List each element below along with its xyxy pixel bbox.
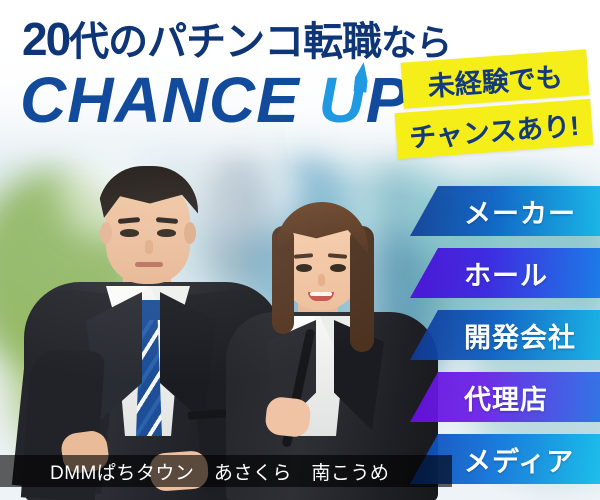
badge-label: メーカー — [464, 192, 576, 231]
caption-band: DMMぱちタウン あさくら 南こうめ — [0, 455, 452, 487]
badge-label: ホール — [464, 254, 548, 293]
advertisement-banner[interactable]: 20代のパチンコ転職なら CHANCE UP 未経験でも チャンスあり! メーカ… — [0, 0, 600, 500]
badge-development-company[interactable]: 開発会社 — [410, 310, 600, 360]
badge-hall[interactable]: ホール — [410, 248, 600, 298]
caption-text: DMMぱちタウン あさくら 南こうめ — [0, 458, 389, 485]
badge-label: 開発会社 — [464, 316, 576, 355]
badge-agency[interactable]: 代理店 — [410, 372, 600, 422]
badge-maker[interactable]: メーカー — [410, 186, 600, 236]
badge-label: 代理店 — [464, 378, 548, 417]
category-badge-list: メーカー ホール 開発会社 代理店 メディア — [0, 0, 600, 500]
badge-label: メディア — [464, 440, 574, 479]
